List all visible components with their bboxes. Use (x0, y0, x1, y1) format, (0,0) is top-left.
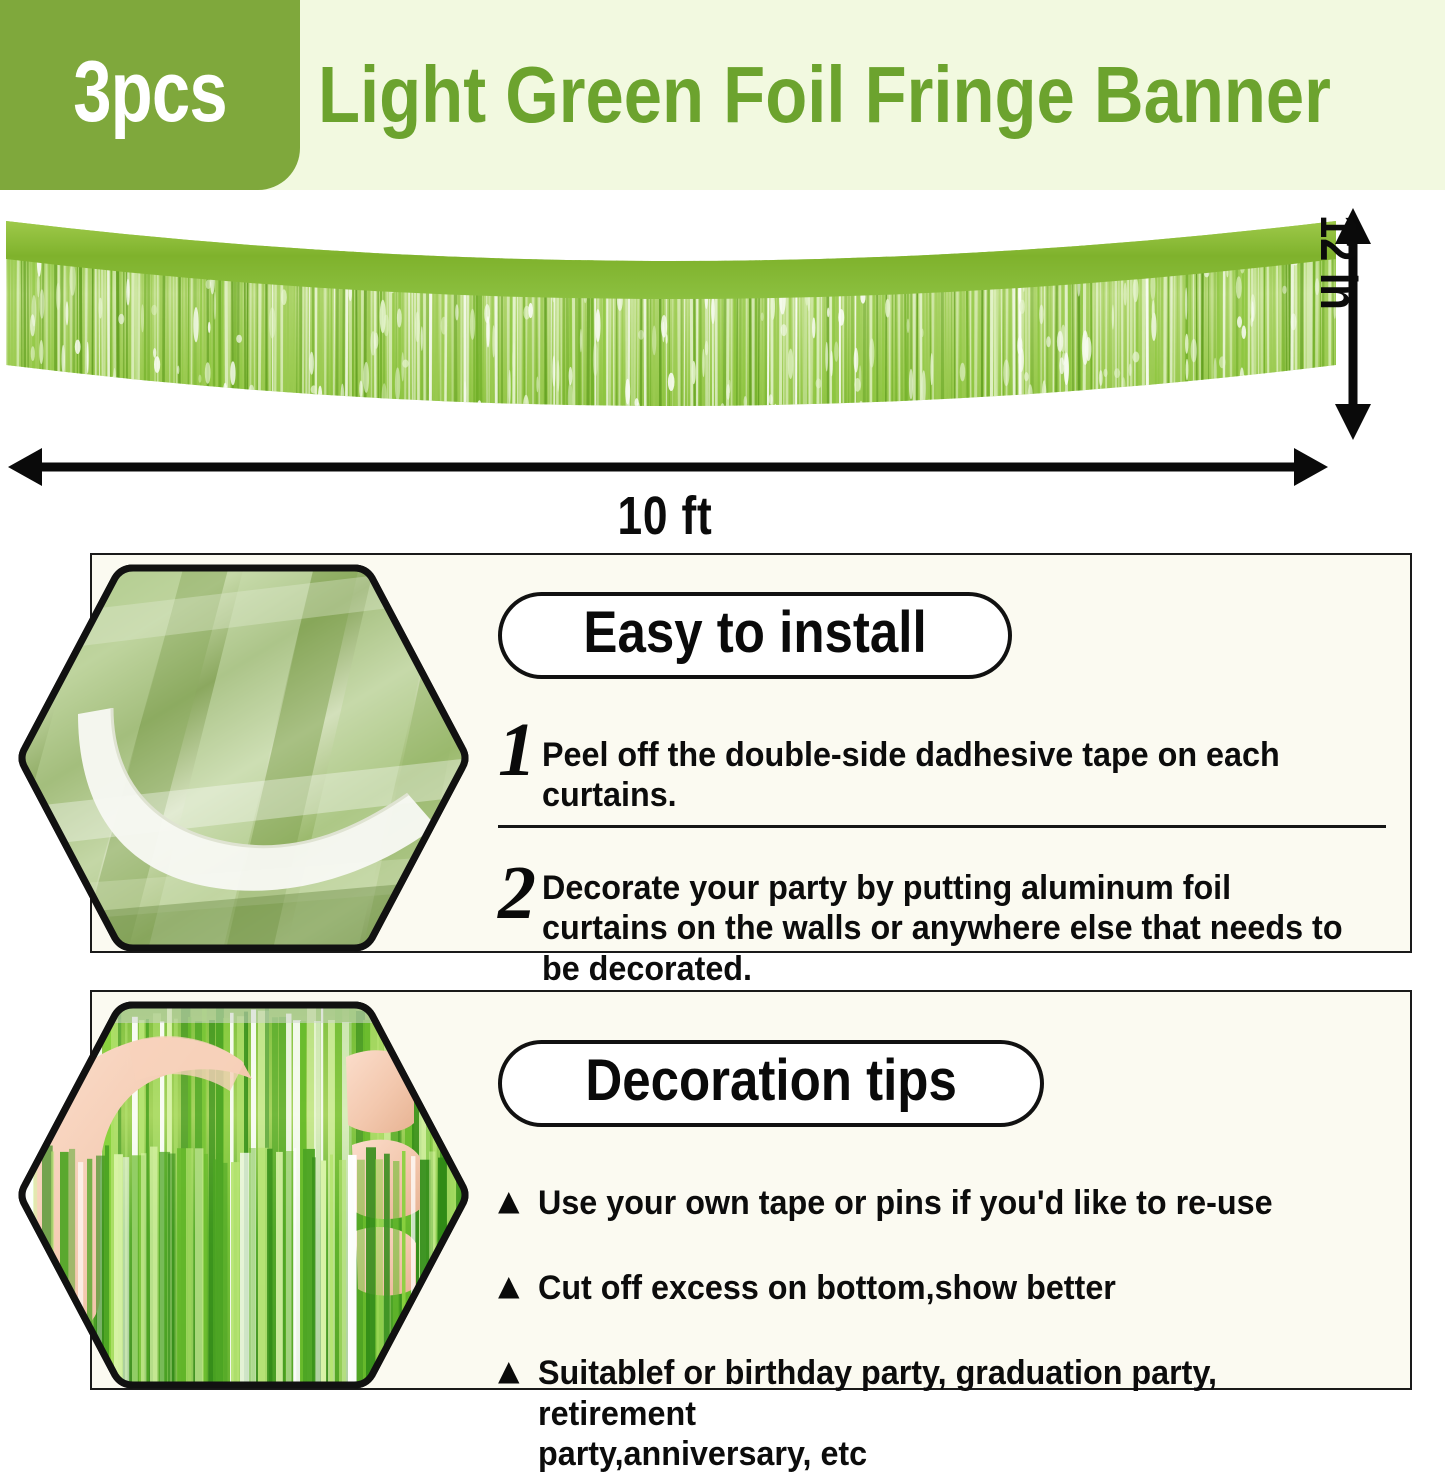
product-banner-image (6, 215, 1336, 440)
height-dimension-value: 12 in (1308, 215, 1368, 310)
install-step: 2 Decorate your party by putting aluminu… (498, 866, 1386, 1001)
install-step: 1 Peel off the double-side dadhesive tap… (498, 723, 1386, 828)
install-step-number: 2 (498, 862, 542, 924)
tip-text: Use your own tape or pins if you'd like … (538, 1183, 1344, 1224)
foil-fringe-graphic (6, 215, 1336, 440)
install-step-number: 1 (498, 719, 542, 781)
tips-heading-text: Decoration tips (585, 1051, 957, 1110)
install-step-text: Decorate your party by putting aluminum … (542, 866, 1344, 988)
product-photo-hand-holding-fringe (16, 995, 471, 1395)
quantity-badge: 3pcs (0, 0, 300, 190)
page-title: Light Green Foil Fringe Banner (318, 0, 1438, 190)
install-content: Easy to install 1 Peel off the double-si… (498, 592, 1398, 1002)
quantity-badge-label: 3pcs (73, 49, 227, 141)
hero-section: 10 ft 12 in (0, 190, 1445, 540)
width-dimension-value: 10 ft (617, 485, 712, 547)
width-dimension-arrow (8, 445, 1328, 489)
hexagon-photo-frame-adhesive (16, 558, 471, 958)
tip-text: Suitablef or birthday party, graduation … (538, 1353, 1344, 1475)
header-band: 3pcs Light Green Foil Fringe Banner (0, 0, 1445, 190)
install-step-text: Peel off the double-side dadhesive tape … (542, 723, 1344, 815)
page-title-text: Light Green Foil Fringe Banner (318, 55, 1331, 135)
hexagon-photo-frame-hand (16, 995, 471, 1395)
tip-item: ▲ Cut off excess on bottom,show better (498, 1268, 1386, 1309)
tips-heading-pill: Decoration tips (498, 1040, 1044, 1127)
triangle-bullet-icon: ▲ (498, 1353, 538, 1388)
width-dimension-label: 10 ft (0, 485, 1330, 547)
install-heading-text: Easy to install (583, 603, 926, 662)
height-dimension-label: 12 in (1308, 215, 1368, 435)
tips-list: ▲ Use your own tape or pins if you'd lik… (498, 1183, 1398, 1475)
triangle-bullet-icon: ▲ (498, 1183, 538, 1218)
tips-content: Decoration tips ▲ Use your own tape or p… (498, 1040, 1398, 1475)
install-steps-list: 1 Peel off the double-side dadhesive tap… (498, 723, 1398, 1002)
triangle-bullet-icon: ▲ (498, 1268, 538, 1303)
product-photo-adhesive-tape (16, 558, 471, 958)
install-heading-pill: Easy to install (498, 592, 1012, 679)
tip-text: Cut off excess on bottom,show better (538, 1268, 1344, 1309)
tip-item: ▲ Use your own tape or pins if you'd lik… (498, 1183, 1386, 1224)
tip-item: ▲ Suitablef or birthday party, graduatio… (498, 1353, 1386, 1475)
